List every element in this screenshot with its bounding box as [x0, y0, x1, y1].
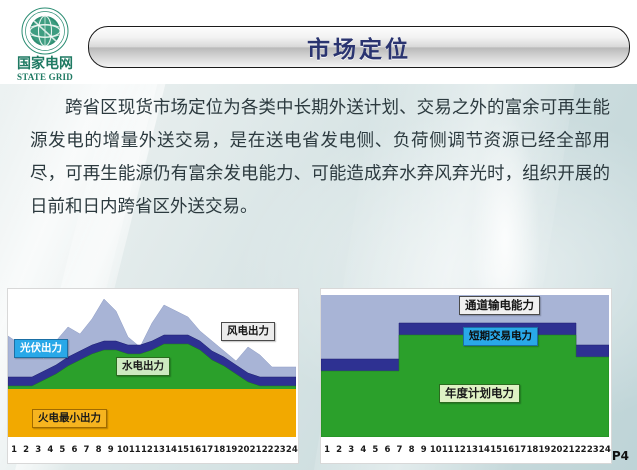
x-tick: 3 [345, 445, 357, 455]
x-tick: 4 [357, 445, 369, 455]
x-tick: 7 [80, 445, 92, 455]
chart-right-x-axis: 1 2 3 4 5 6 7 8 9 10 11 12 13 14 15 16 1… [321, 437, 611, 462]
body-paragraph: 跨省区现货市场定位为各类中长期外送计划、交易之外的富余可再生能源发电的增量外送交… [30, 92, 610, 224]
page-title: 市场定位 [89, 27, 629, 67]
brand-name-en: STATE GRID [8, 72, 82, 82]
page-number: P4 [612, 449, 629, 463]
x-tick: 24 [286, 445, 298, 455]
x-tick: 13 [153, 445, 165, 455]
x-tick: 19 [225, 445, 237, 455]
x-tick: 14 [165, 445, 177, 455]
x-tick: 18 [213, 445, 225, 455]
x-tick: 5 [56, 445, 68, 455]
x-tick: 7 [393, 445, 405, 455]
chart-right-label-annual: 年度计划电力 [439, 384, 520, 403]
x-tick: 23 [587, 445, 599, 455]
x-tick: 15 [490, 445, 502, 455]
slide: 国家电网 STATE GRID 市场定位 跨省区现货市场定位为各类中长期外送计划… [0, 0, 637, 470]
brand-logo: 国家电网 STATE GRID [8, 6, 82, 82]
chart-right-plot: 通道输电能力 短期交易电力 年度计划电力 [321, 289, 611, 437]
brand-name-cn: 国家电网 [8, 57, 82, 72]
x-tick: 2 [20, 445, 32, 455]
chart-transmission-plan: 通道输电能力 短期交易电力 年度计划电力 1 2 3 4 5 6 7 8 9 1… [320, 288, 612, 464]
chart-left-label-pv: 光伏出力 [14, 339, 68, 358]
header-bar: 市场定位 [88, 26, 630, 68]
x-tick: 9 [105, 445, 117, 455]
x-tick: 23 [274, 445, 286, 455]
chart-right-label-capacity: 通道输电能力 [459, 296, 540, 315]
x-tick: 5 [369, 445, 381, 455]
x-tick: 9 [418, 445, 430, 455]
x-tick: 10 [430, 445, 442, 455]
chart-right-label-short: 短期交易电力 [463, 327, 538, 346]
x-tick: 2 [333, 445, 345, 455]
x-tick: 24 [599, 445, 611, 455]
x-tick: 4 [44, 445, 56, 455]
x-tick: 17 [201, 445, 213, 455]
x-tick: 8 [406, 445, 418, 455]
chart-left-label-wind: 风电出力 [221, 322, 275, 341]
x-tick: 16 [189, 445, 201, 455]
x-tick: 14 [478, 445, 490, 455]
x-tick: 10 [117, 445, 129, 455]
x-tick: 17 [514, 445, 526, 455]
x-tick: 6 [68, 445, 80, 455]
chart-left-x-axis: 1 2 3 4 5 6 7 8 9 10 11 12 13 14 15 16 1… [8, 437, 298, 462]
x-tick: 1 [8, 445, 20, 455]
x-tick: 8 [93, 445, 105, 455]
x-tick: 15 [177, 445, 189, 455]
chart-renewable-output: 光伏出力 水电出力 风电出力 火电最小出力 1 2 3 4 5 6 7 8 9 … [7, 288, 299, 464]
x-tick: 12 [141, 445, 153, 455]
x-tick: 22 [575, 445, 587, 455]
x-tick: 20 [237, 445, 249, 455]
x-tick: 21 [250, 445, 262, 455]
x-tick: 6 [381, 445, 393, 455]
x-tick: 12 [454, 445, 466, 455]
x-tick: 21 [563, 445, 575, 455]
x-tick: 11 [129, 445, 141, 455]
state-grid-globe-icon [20, 6, 70, 56]
x-tick: 19 [538, 445, 550, 455]
chart-left-label-hydro: 水电出力 [116, 357, 170, 376]
chart-left-plot: 光伏出力 水电出力 风电出力 火电最小出力 [8, 289, 298, 437]
x-tick: 11 [442, 445, 454, 455]
x-tick: 1 [321, 445, 333, 455]
x-tick: 20 [550, 445, 562, 455]
x-tick: 16 [502, 445, 514, 455]
x-tick: 22 [262, 445, 274, 455]
x-tick: 13 [466, 445, 478, 455]
chart-left-label-thermal: 火电最小出力 [32, 409, 107, 428]
x-tick: 3 [32, 445, 44, 455]
x-tick: 18 [526, 445, 538, 455]
